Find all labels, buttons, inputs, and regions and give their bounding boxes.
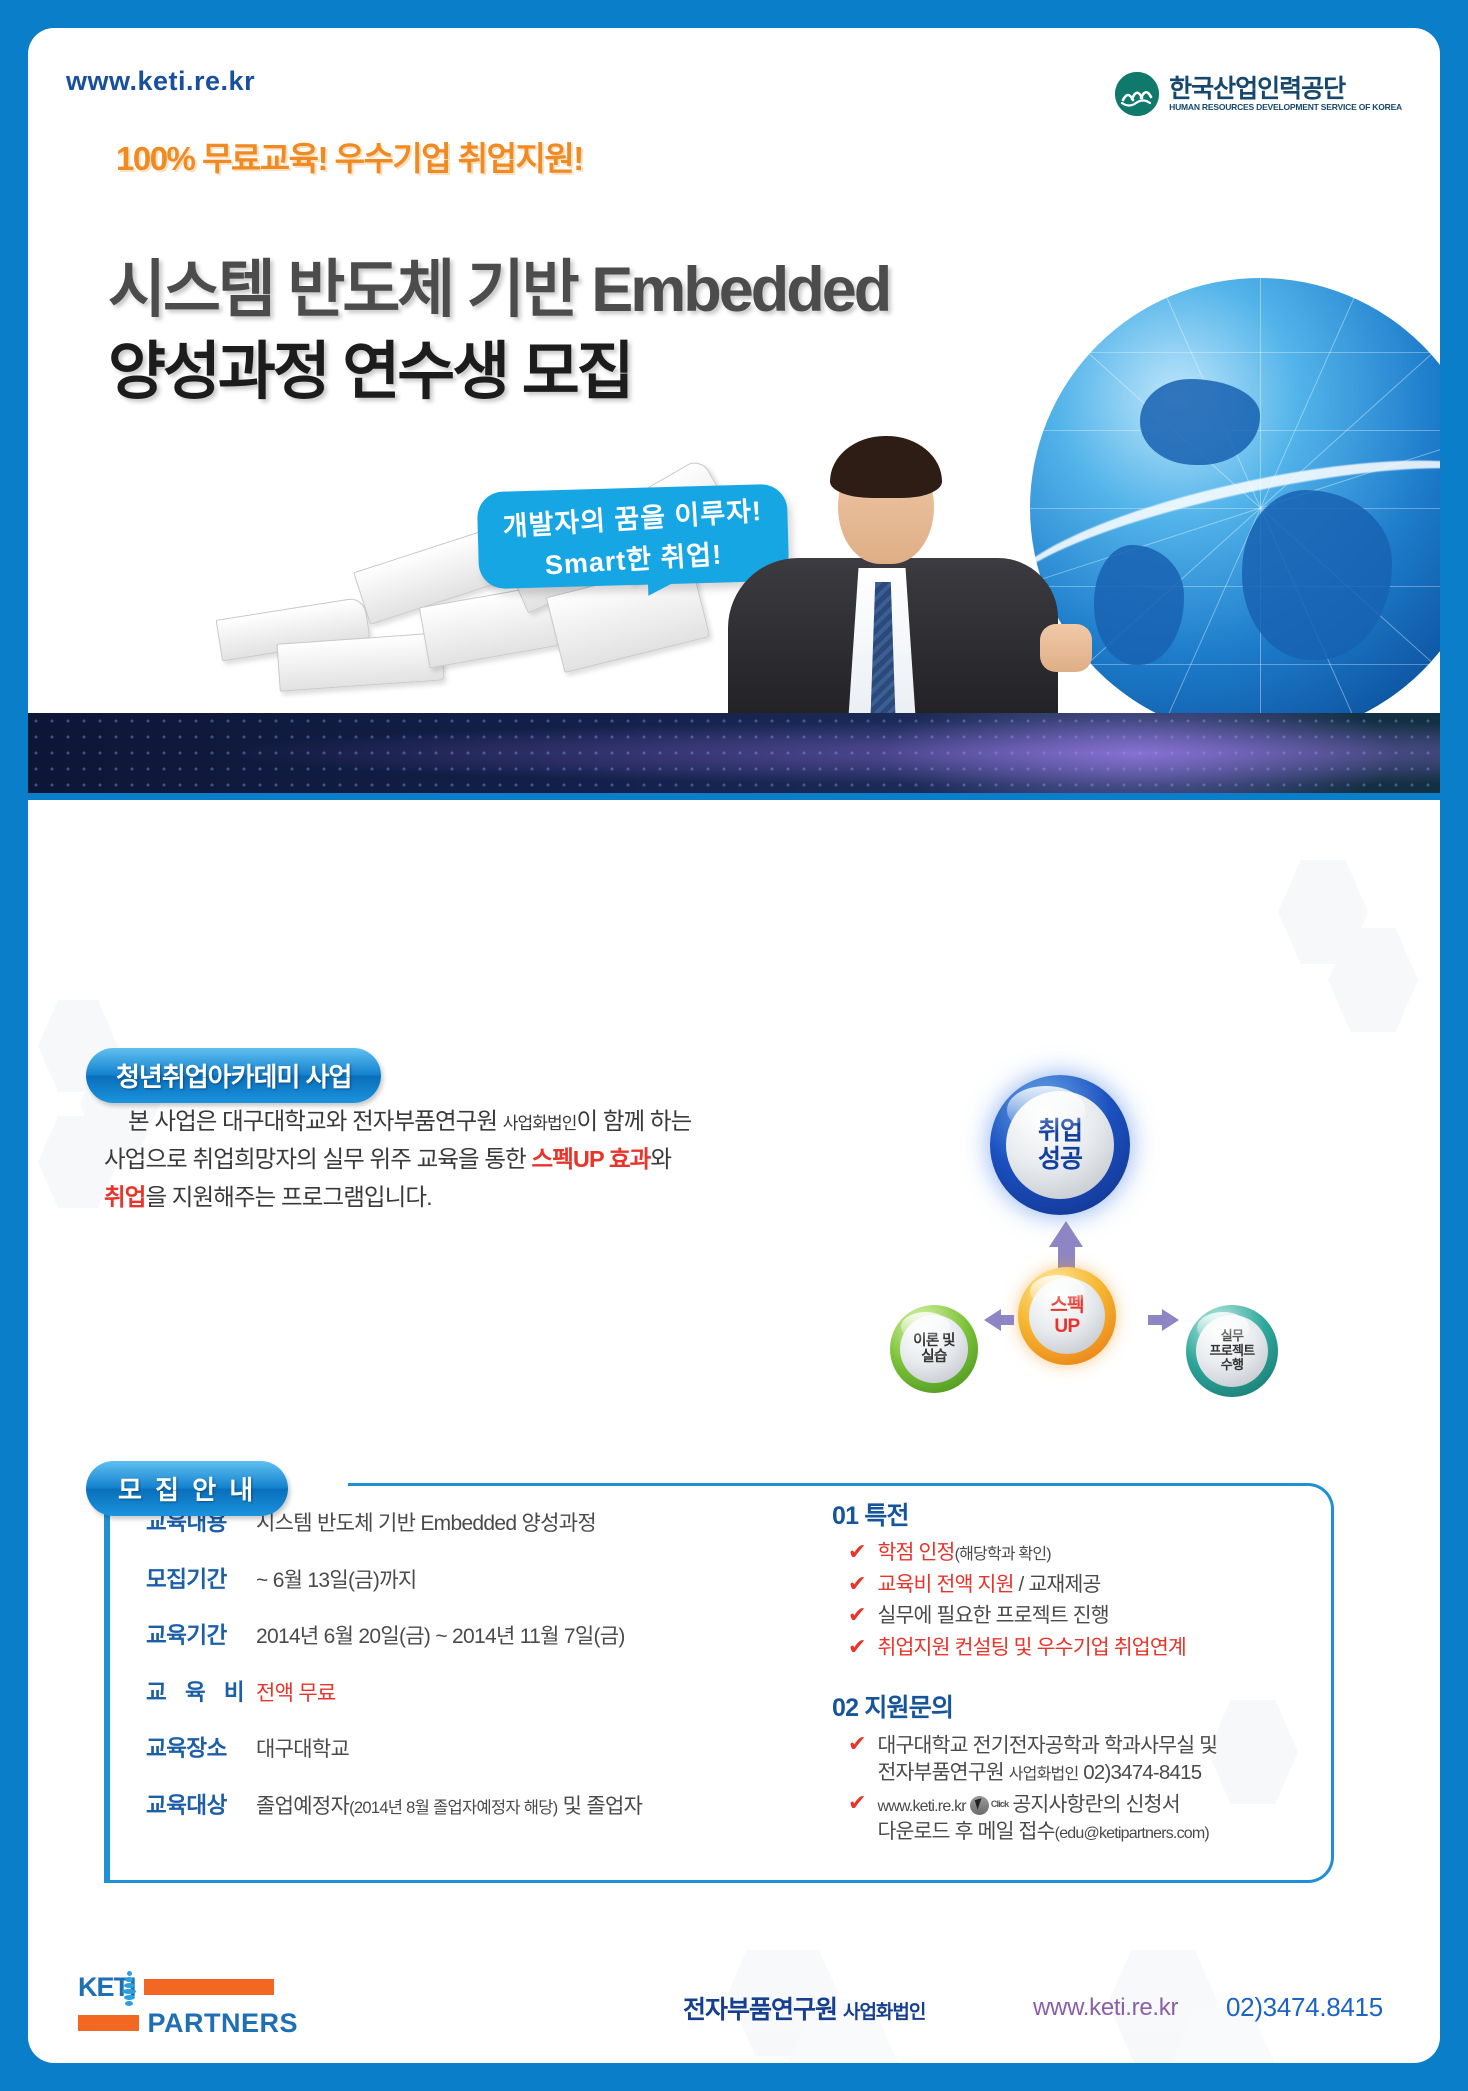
hrd-korea-logo: 한국산업인력공단 HUMAN RESOURCES DEVELOPMENT SER…: [1115, 72, 1402, 116]
orb-success-line1: 취업: [1038, 1117, 1082, 1145]
arrow-left-icon: [984, 1309, 1001, 1331]
orb-practical-project: 실무 프로젝트 수행: [1186, 1305, 1278, 1397]
contact-l3-rest: 공지사항란의 신청서: [1012, 1793, 1179, 1816]
orb-spec-line1: 스펙: [1050, 1295, 1084, 1316]
info-label: 모집기간: [146, 1562, 256, 1594]
orb-success-line2: 성공: [1038, 1145, 1082, 1173]
footer-section: KETI PARTNERS 전자부품연구원 사업화법인 www.keti.re.…: [28, 1950, 1440, 2063]
info-value: ~ 6월 13일(금)까지: [256, 1564, 416, 1594]
wave-mark-icon: [1115, 72, 1159, 116]
orb-spec-line2: UP: [1050, 1316, 1084, 1337]
right-column: 01 특전 ✔학점 인정(해당학과 확인)✔교육비 전액 지원 / 교재제공✔실…: [832, 1496, 1312, 1850]
cursor-click-icon: Click: [970, 1796, 1009, 1815]
hero-site-url[interactable]: www.keti.re.kr: [66, 66, 255, 97]
info-row: 교육기간2014년 6월 20일(금) ~ 2014년 11월 7일(금): [146, 1618, 786, 1650]
hrd-logo-korean: 한국산업인력공단: [1169, 76, 1402, 102]
info-row: 모집기간~ 6월 13일(금)까지: [146, 1562, 786, 1594]
benefit-item-text: 실무에 필요한 프로젝트 진행: [877, 1603, 1108, 1630]
intro-line-3: 취업을 지원해주는 프로그램입니다.: [104, 1178, 764, 1216]
benefit-item-text: 취업지원 컨설팅 및 우수기업 취업연계: [877, 1635, 1186, 1662]
info-row: 교육장소대구대학교: [146, 1731, 786, 1763]
info-label: 교육장소: [146, 1731, 256, 1763]
orb-spec-up-label: 스펙 UP: [1029, 1278, 1105, 1354]
intro-l3-b: 을 지원해주는 프로그램입니다.: [145, 1184, 431, 1210]
keti-logo-bottom-row: PARTNERS: [78, 2008, 298, 2038]
banner-glow: [880, 713, 1400, 793]
hrd-logo-english: HUMAN RESOURCES DEVELOPMENT SERVICE OF K…: [1169, 103, 1402, 112]
orb-spec-up: 스펙 UP: [1018, 1267, 1116, 1365]
info-row: 교육대상졸업예정자(2014년 8월 졸업자예정자 해당) 및 졸업자: [146, 1788, 786, 1820]
orb-theory-line2: 실습: [913, 1349, 955, 1365]
check-icon: ✔: [848, 1572, 866, 1599]
arrow-right-icon: [1162, 1309, 1179, 1331]
benefit-item: ✔실무에 필요한 프로젝트 진행: [832, 1603, 1312, 1630]
footer-org-name: 전자부품연구원: [683, 1996, 837, 2024]
contact-l2-b: 02)3474-8415: [1078, 1761, 1201, 1784]
info-row: 교 육 비전액 무료: [146, 1675, 786, 1707]
footer-telephone[interactable]: 02)3474.8415: [1226, 1992, 1383, 2023]
orb-project-label: 실무 프로젝트 수행: [1196, 1315, 1268, 1387]
academy-intro-text: 본 사업은 대구대학교와 전자부품연구원 사업화법인이 함께 하는 사업으로 취…: [104, 1102, 764, 1216]
intro-line-1: 본 사업은 대구대학교와 전자부품연구원 사업화법인이 함께 하는: [104, 1102, 764, 1140]
section-pill-recruit: 모 집 안 내: [86, 1461, 288, 1516]
contact-l4-a: 다운로드 후 메일 접수: [877, 1820, 1054, 1843]
keti-partners-logo: KETI PARTNERS: [78, 1972, 298, 2040]
click-label: Click: [991, 1799, 1009, 1811]
orb-employment-success-label: 취업 성공: [1006, 1091, 1114, 1199]
partners-wordmark: PARTNERS: [147, 2008, 298, 2039]
info-value: 전액 무료: [256, 1677, 336, 1707]
info-label: 교 육 비: [146, 1675, 256, 1707]
intro-l1-small: 사업화법인: [503, 1114, 577, 1133]
orb-project-line3: 수행: [1209, 1358, 1254, 1373]
contact-item-2-text: www.keti.re.krClick공지사항란의 신청서 다운로드 후 메일 …: [877, 1791, 1209, 1845]
contact-l1: 대구대학교 전기전자공학과 학과사무실 및: [877, 1734, 1217, 1757]
arrow-right-stem: [1148, 1315, 1162, 1325]
recruit-info-list: 교육내용시스템 반도체 기반 Embedded 양성과정모집기간~ 6월 13일…: [146, 1505, 786, 1844]
footer-website-url[interactable]: www.keti.re.kr: [1033, 1994, 1178, 2022]
benefit-item: ✔학점 인정(해당학과 확인): [832, 1540, 1312, 1567]
intro-l2-a: 사업으로 취업희망자의 실무 위주 교육을 통한: [104, 1146, 531, 1172]
contact-title: 02 지원문의: [832, 1688, 1312, 1724]
info-value: 시스템 반도체 기반 Embedded 양성과정: [256, 1507, 596, 1537]
info-value: 대구대학교: [256, 1733, 349, 1763]
intro-l2-b: 와: [650, 1146, 671, 1172]
footer-organization: 전자부품연구원 사업화법인: [683, 1990, 925, 2026]
intro-l1-b: 이 함께 하는: [576, 1108, 691, 1134]
benefit-item: ✔교육비 전액 지원 / 교재제공: [832, 1572, 1312, 1599]
contact-l2-small: 사업화법인: [1009, 1766, 1079, 1783]
intro-l3-highlight: 취업: [104, 1184, 145, 1210]
contact-website-url[interactable]: www.keti.re.kr: [877, 1798, 965, 1815]
check-icon: ✔: [848, 1540, 866, 1567]
orb-theory-practice: 이론 및 실습: [890, 1305, 978, 1393]
intro-l2-highlight: 스펙UP 효과: [531, 1146, 650, 1172]
info-value: 졸업예정자(2014년 8월 졸업자예정자 해당) 및 졸업자: [256, 1790, 642, 1820]
hero-section: www.keti.re.kr 한국산업인력공단 HUMAN RESOURCES …: [28, 28, 1440, 713]
check-icon: ✔: [848, 1732, 866, 1786]
info-label: 교육대상: [146, 1788, 256, 1820]
info-label: 교육기간: [146, 1618, 256, 1650]
check-icon: ✔: [848, 1635, 866, 1662]
hrd-logo-text: 한국산업인력공단 HUMAN RESOURCES DEVELOPMENT SER…: [1169, 76, 1402, 111]
check-icon: ✔: [848, 1603, 866, 1630]
keti-orange-bar-2: [78, 2015, 139, 2031]
benefit-item-note: (해당학과 확인): [955, 1546, 1051, 1563]
benefit-item-rest: / 교재제공: [1014, 1573, 1101, 1596]
arrow-up-icon: [1049, 1221, 1083, 1247]
keti-logo-top-row: KETI: [78, 1972, 298, 2002]
poster-root: www.keti.re.kr 한국산업인력공단 HUMAN RESOURCES …: [0, 0, 1468, 2091]
footer-org-suffix: 사업화법인: [843, 2002, 925, 2023]
check-icon: ✔: [848, 1791, 866, 1845]
fist-shape: [1040, 624, 1092, 672]
benefits-list: ✔학점 인정(해당학과 확인)✔교육비 전액 지원 / 교재제공✔실무에 필요한…: [832, 1540, 1312, 1662]
contact-item-1: ✔ 대구대학교 전기전자공학과 학과사무실 및 전자부품연구원 사업화법인 02…: [832, 1732, 1312, 1786]
section-pill-academy: 청년취업아카데미 사업: [86, 1048, 381, 1103]
intro-l1-a: 본 사업은 대구대학교와 전자부품연구원: [128, 1108, 503, 1134]
arrow-left-stem: [1000, 1315, 1014, 1325]
orb-theory-label: 이론 및 실습: [900, 1315, 968, 1383]
intro-line-2: 사업으로 취업희망자의 실무 위주 교육을 통한 스펙UP 효과와: [104, 1140, 764, 1178]
info-value: 2014년 6월 20일(금) ~ 2014년 11월 7일(금): [256, 1620, 625, 1650]
contact-email: (edu@ketipartners.com): [1055, 1825, 1209, 1842]
hair-shape: [830, 436, 942, 498]
hero-title-line2: 양성과정 연수생 모집: [108, 332, 889, 414]
orb-project-line2: 프로젝트: [1209, 1344, 1254, 1359]
businessman-photo: [688, 428, 1108, 713]
contact-l2-a: 전자부품연구원: [877, 1761, 1008, 1784]
benefit-item-text: 교육비 전액 지원 / 교재제공: [877, 1572, 1100, 1599]
orb-employment-success: 취업 성공: [990, 1075, 1130, 1215]
benefit-item-text: 학점 인정(해당학과 확인): [877, 1540, 1050, 1567]
spec-up-diagram: 취업 성공 스펙 UP 이론 및 실습: [890, 1075, 1290, 1405]
orb-project-line1: 실무: [1209, 1329, 1254, 1344]
keti-dots-icon: [118, 1970, 140, 2004]
benefits-title: 01 특전: [832, 1496, 1312, 1532]
decorative-banner: [28, 713, 1440, 793]
benefit-item: ✔취업지원 컨설팅 및 우수기업 취업연계: [832, 1635, 1312, 1662]
hero-title-line1: 시스템 반도체 기반 Embedded: [108, 255, 889, 325]
orb-theory-line1: 이론 및: [913, 1333, 955, 1349]
contact-block: 02 지원문의 ✔ 대구대학교 전기전자공학과 학과사무실 및 전자부품연구원 …: [832, 1688, 1312, 1845]
contact-item-1-text: 대구대학교 전기전자공학과 학과사무실 및 전자부품연구원 사업화법인 02)3…: [877, 1732, 1217, 1786]
keti-orange-bar-1: [144, 1979, 274, 1995]
contact-item-2: ✔ www.keti.re.krClick공지사항란의 신청서 다운로드 후 메…: [832, 1791, 1312, 1845]
